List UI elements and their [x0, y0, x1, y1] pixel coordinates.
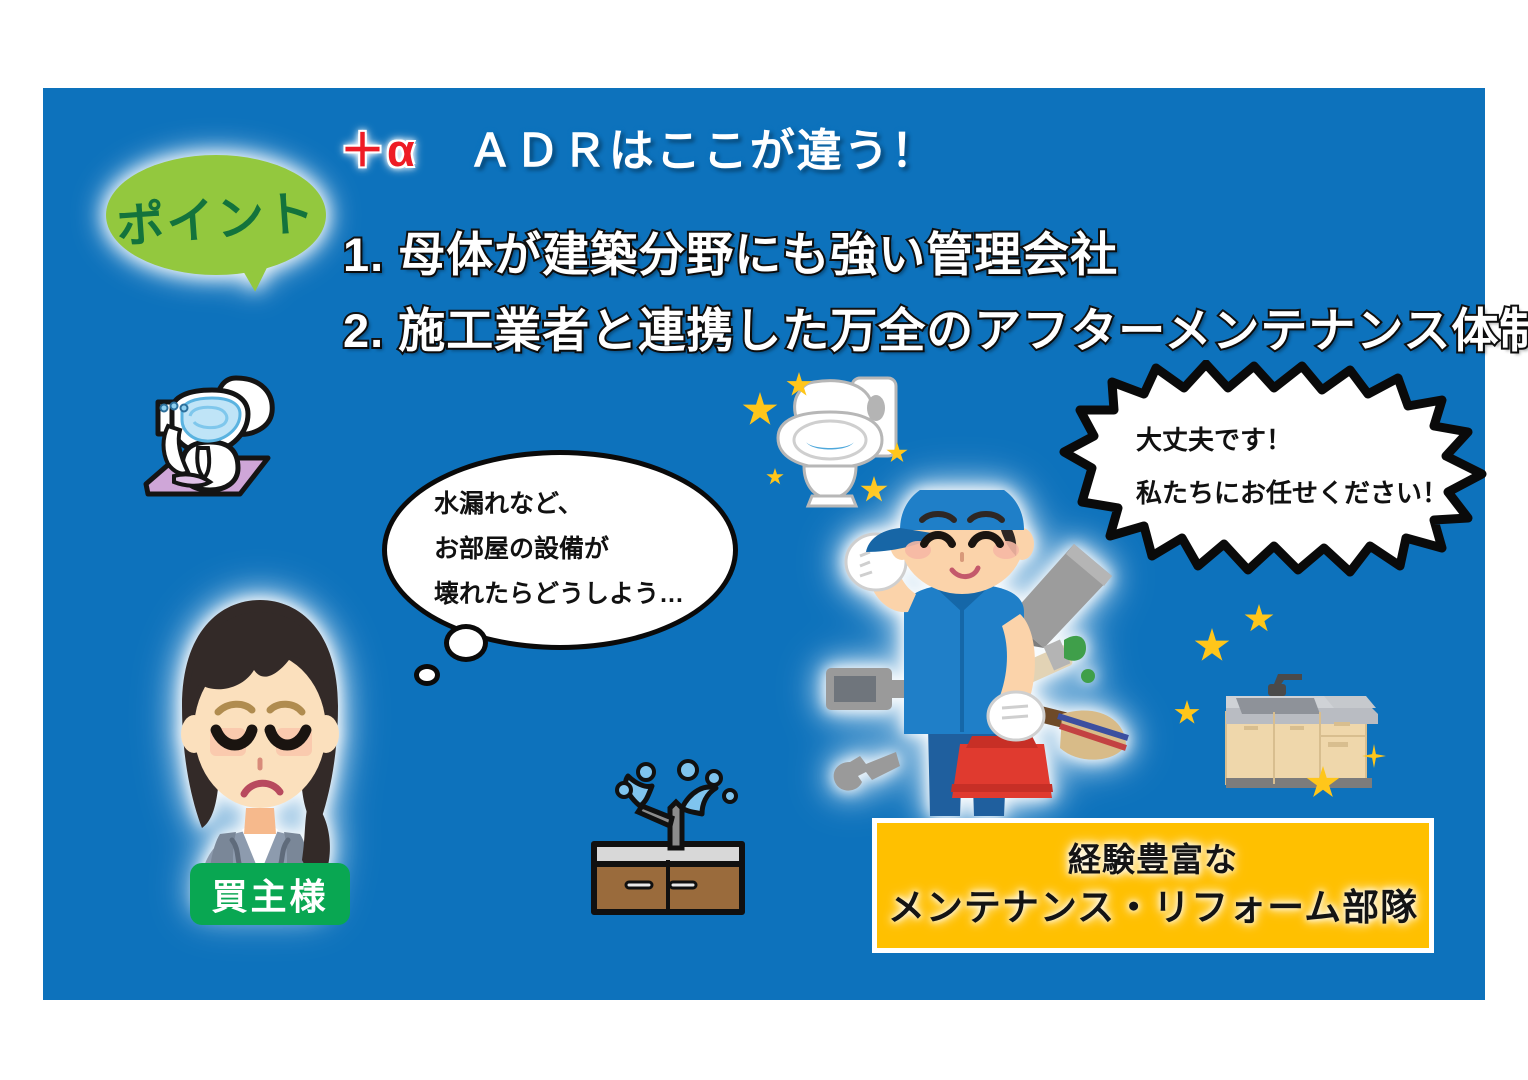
thought-line-1: 水漏れなど、: [434, 482, 734, 527]
team-banner: 経験豊富な メンテナンス・リフォーム部隊: [872, 818, 1434, 953]
team-banner-line-1: 経験豊富な: [1068, 838, 1238, 882]
thought-line-2: お部屋の設備が: [434, 527, 734, 572]
slide-canvas: ＋α ＡＤＲはここが違う！ ポイント 1. 母体が建築分野にも強い管理会社 2.…: [0, 0, 1528, 1080]
point-badge-label: ポイント: [102, 147, 330, 282]
worker-speech-bubble: 大丈夫です！ 私たちにお任せください！: [1058, 360, 1490, 580]
title-plus-alpha: ＋α: [340, 125, 417, 176]
buyer-name-badge: 買主様: [190, 863, 350, 925]
point-speech-badge: ポイント: [106, 155, 326, 275]
speech-line-2: 私たちにお任せください！: [1136, 467, 1466, 520]
page-title: ＋α ＡＤＲはここが違う！: [340, 122, 1100, 182]
buyer-thought-bubble: 水漏れなど、 お部屋の設備が 壊れたらどうしよう…: [382, 450, 738, 650]
speech-line-1: 大丈夫です！: [1136, 414, 1466, 467]
point-item-1: 1. 母体が建築分野にも強い管理会社: [343, 216, 1118, 285]
worried-woman-buyer-illustration: [150, 578, 370, 908]
clean-kitchen-sink-illustration: [1216, 660, 1386, 800]
thought-bubble-dot-large: [444, 624, 488, 662]
thought-line-3: 壊れたらどうしよう…: [434, 572, 734, 617]
title-main: ＡＤＲはここが違う！: [468, 125, 938, 176]
speech-bubble-text: 大丈夫です！ 私たちにお任せください！: [1136, 414, 1466, 520]
overflowing-toilet-illustration: [128, 372, 288, 517]
point-item-2: 2. 施工業者と連携した万全のアフターメンテナンス体制: [343, 292, 1528, 361]
thought-bubble-dot-small: [414, 664, 440, 686]
thought-bubble-text: 水漏れなど、 お部屋の設備が 壊れたらどうしよう…: [434, 482, 734, 617]
team-banner-line-2: メンテナンス・リフォーム部隊: [888, 882, 1418, 934]
broken-faucet-illustration: [578, 756, 758, 926]
